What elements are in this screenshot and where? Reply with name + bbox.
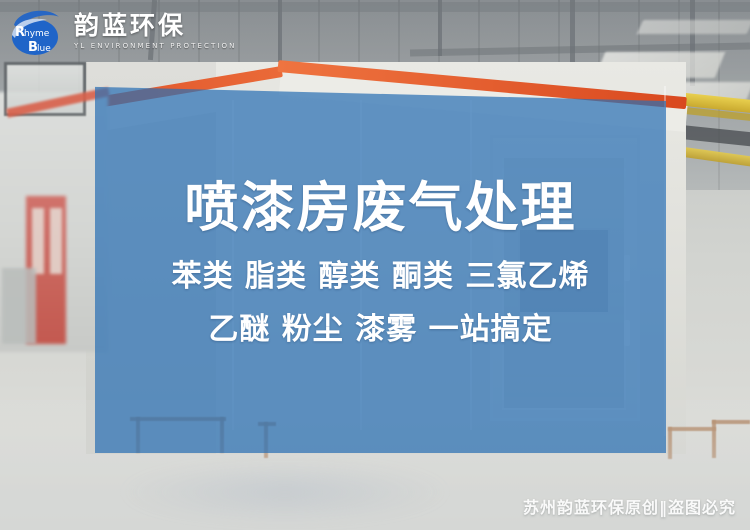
brand-name-en: YL ENVIRONMENT PROTECTION — [74, 43, 237, 50]
ceiling-column — [438, 0, 442, 56]
brand-name-cn: 韵蓝环保 — [74, 13, 237, 38]
rhyme-blue-logo-icon[interactable]: R hyme B lue — [8, 4, 64, 58]
copyright-watermark: 苏州韵蓝环保原创‖盗图必究 — [523, 494, 736, 518]
promo-banner: 喷漆房废气处理 苯类 脂类 醇类 酮类 三氯乙烯 乙醚 粉尘 漆雾 一站搞定 R… — [0, 0, 750, 530]
ceiling-column — [570, 0, 575, 70]
brand-header[interactable]: R hyme B lue 韵蓝环保 YL ENVIRONMENT PROTECT… — [0, 0, 330, 62]
control-cabinet — [2, 268, 36, 344]
skylight-panel — [637, 20, 750, 34]
red-door-glass-panel — [32, 208, 44, 274]
brand-text: 韵蓝环保 YL ENVIRONMENT PROTECTION — [74, 13, 237, 50]
floor-reflection — [120, 460, 450, 524]
red-door-glass-panel — [50, 208, 62, 274]
blue-overlay-panel — [95, 72, 666, 453]
svg-text:lue: lue — [37, 44, 51, 54]
svg-text:hyme: hyme — [24, 29, 50, 39]
